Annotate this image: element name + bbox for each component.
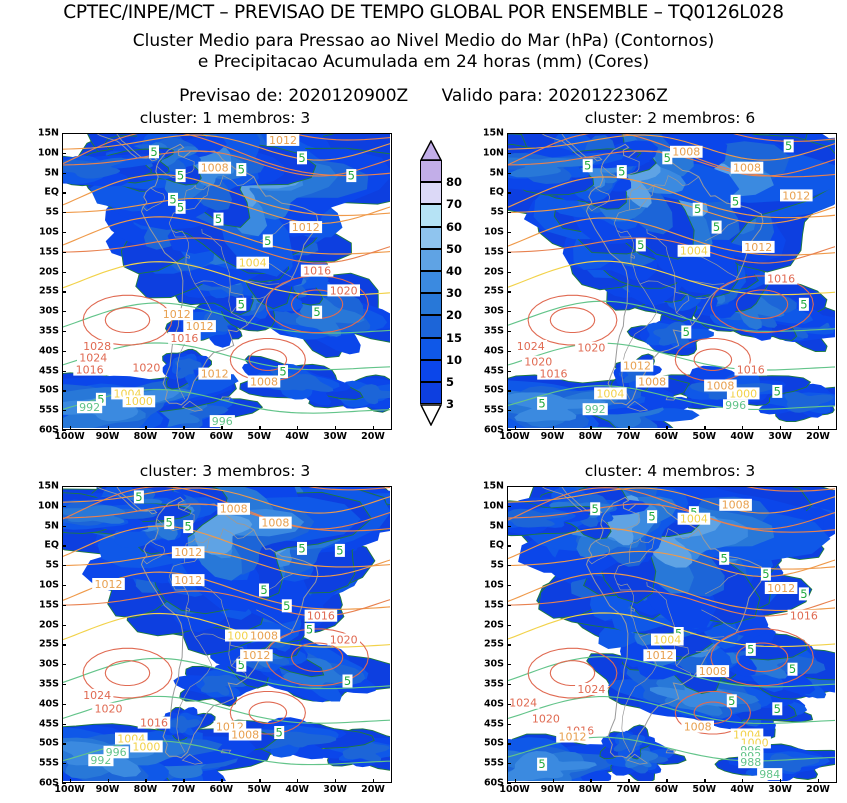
y-tick bbox=[507, 212, 511, 213]
x-tick bbox=[515, 779, 516, 783]
precip-contour-label: 5 bbox=[683, 325, 690, 339]
x-tick bbox=[297, 426, 298, 430]
subtitle-line-1: Cluster Medio para Pressao ao Nivel Medi… bbox=[0, 31, 847, 51]
precip-contour-label: 5 bbox=[789, 662, 796, 676]
colorbar-tick-label: 40 bbox=[446, 264, 462, 278]
x-axis-label: 100W bbox=[54, 784, 84, 795]
isobar-label: 1008 bbox=[722, 499, 750, 512]
x-axis-label: 30W bbox=[768, 784, 792, 795]
x-tick bbox=[108, 426, 109, 430]
y-tick bbox=[507, 486, 511, 487]
isobar-label: 1016 bbox=[790, 610, 818, 623]
precip-contour-label: 5 bbox=[584, 159, 591, 173]
y-tick bbox=[507, 743, 511, 744]
isobar-label: 1024 bbox=[509, 697, 537, 710]
y-axis-label: 35S bbox=[28, 326, 59, 337]
precip-contour-label: 5 bbox=[150, 145, 157, 159]
valid-for-text: Valido para: 2020122306Z bbox=[442, 86, 668, 106]
y-tick bbox=[62, 486, 66, 487]
isobar-label: 1012 bbox=[559, 730, 587, 743]
x-axis-label: 60W bbox=[654, 784, 678, 795]
x-tick bbox=[373, 426, 374, 430]
x-axis-label: 60W bbox=[209, 784, 233, 795]
y-tick bbox=[62, 153, 66, 154]
colorbar-arrow-down bbox=[420, 404, 442, 426]
y-tick bbox=[62, 232, 66, 233]
x-tick bbox=[742, 779, 743, 783]
y-tick bbox=[62, 545, 66, 546]
y-tick bbox=[507, 390, 511, 391]
y-tick bbox=[62, 351, 66, 352]
isobar-label: 996 bbox=[725, 399, 746, 412]
y-axis-label: 15S bbox=[28, 599, 59, 610]
map-canvas: 5555555555555101210081012100410161020101… bbox=[63, 134, 391, 429]
y-tick bbox=[62, 252, 66, 253]
y-tick bbox=[62, 743, 66, 744]
y-axis-label: 50S bbox=[28, 385, 59, 396]
precip-contour-label: 5 bbox=[276, 726, 283, 740]
x-axis-label: 40W bbox=[285, 784, 309, 795]
x-axis-label: 90W bbox=[96, 784, 120, 795]
y-tick bbox=[507, 371, 511, 372]
x-tick bbox=[628, 779, 629, 783]
isobar-label: 1016 bbox=[140, 717, 168, 730]
precip-contour-label: 5 bbox=[344, 674, 351, 688]
colorbar-band bbox=[420, 160, 442, 182]
isobar-label: 1012 bbox=[174, 574, 202, 587]
precip-contour-label: 5 bbox=[618, 165, 625, 179]
x-axis-label: 100W bbox=[499, 431, 529, 442]
y-axis-label: 10S bbox=[28, 580, 59, 591]
x-axis-label: 70W bbox=[172, 431, 196, 442]
x-axis-label: 70W bbox=[617, 431, 641, 442]
precip-contour-label: 5 bbox=[135, 490, 142, 504]
y-tick bbox=[507, 133, 511, 134]
isobar-label: 1008 bbox=[638, 375, 666, 388]
y-axis-label: EQ bbox=[28, 187, 59, 198]
isobar-label: 1012 bbox=[782, 189, 810, 202]
x-axis-label: 70W bbox=[617, 784, 641, 795]
map-panel-cluster-2[interactable]: 5555555555551008100810121004101210161024… bbox=[507, 133, 837, 430]
y-tick bbox=[507, 585, 511, 586]
colorbar-tick-label: 15 bbox=[446, 331, 462, 345]
x-tick bbox=[628, 426, 629, 430]
colorbar-arrow-up bbox=[420, 140, 442, 161]
y-axis-label: 15N bbox=[473, 128, 504, 139]
panel-title-3: cluster: 3 membros: 3 bbox=[60, 462, 390, 480]
isobar-label: 1024 bbox=[577, 683, 605, 696]
x-axis-label: 20W bbox=[806, 431, 830, 442]
isobar-label: 1000 bbox=[132, 740, 160, 753]
precip-contour-label: 5 bbox=[260, 583, 267, 597]
y-axis-label: 25S bbox=[28, 639, 59, 650]
precip-contour-label: 5 bbox=[538, 396, 545, 410]
y-tick bbox=[507, 192, 511, 193]
colorbar-tick-label: 50 bbox=[446, 242, 462, 256]
precip-contour-label: 5 bbox=[747, 642, 754, 656]
x-axis-label: 60W bbox=[654, 431, 678, 442]
isobar-label: 1008 bbox=[250, 629, 278, 642]
y-axis-label: 15N bbox=[28, 128, 59, 139]
y-tick bbox=[507, 684, 511, 685]
precip-contour-label: 5 bbox=[238, 297, 245, 311]
precip-contour-label: 5 bbox=[336, 543, 343, 557]
map-svg: 5555555555551008100810121012101210161020… bbox=[63, 487, 390, 781]
precip-contour-label: 5 bbox=[185, 520, 192, 534]
y-tick bbox=[507, 625, 511, 626]
x-tick bbox=[818, 779, 819, 783]
forecast-dates: Previsao de: 2020120900Z Valido para: 20… bbox=[0, 86, 847, 106]
x-axis-label: 50W bbox=[247, 784, 271, 795]
x-tick bbox=[590, 426, 591, 430]
y-axis-label: 20S bbox=[473, 619, 504, 630]
x-tick bbox=[335, 426, 336, 430]
isobar-label: 1004 bbox=[239, 257, 267, 270]
y-tick bbox=[62, 133, 66, 134]
precip-contour-label: 5 bbox=[728, 694, 735, 708]
isobar-label: 984 bbox=[759, 768, 780, 781]
y-tick bbox=[62, 390, 66, 391]
y-tick bbox=[507, 545, 511, 546]
precip-contour-label: 5 bbox=[348, 169, 355, 183]
y-axis-label: 10N bbox=[28, 147, 59, 158]
x-tick bbox=[335, 779, 336, 783]
x-tick bbox=[221, 779, 222, 783]
map-svg: 5555555555551008100810121004101210161024… bbox=[508, 134, 835, 428]
y-axis-label: 50S bbox=[473, 738, 504, 749]
x-axis-label: 40W bbox=[730, 784, 754, 795]
x-axis-label: 20W bbox=[361, 431, 385, 442]
y-axis-label: 5S bbox=[28, 207, 59, 218]
precip-contour-label: 5 bbox=[800, 587, 807, 601]
y-axis-label: 35S bbox=[28, 679, 59, 690]
precip-contour-label: 5 bbox=[637, 238, 644, 252]
y-axis-label: 55S bbox=[473, 758, 504, 769]
x-axis-label: 80W bbox=[134, 431, 158, 442]
map-svg: 5555555555551008100410121016100410121008… bbox=[508, 487, 835, 781]
isobar-line bbox=[83, 295, 172, 345]
y-tick bbox=[507, 605, 511, 606]
precip-contour-label: 5 bbox=[713, 220, 720, 234]
precip-contour-label: 5 bbox=[279, 365, 286, 379]
isobar-label: 996 bbox=[106, 746, 127, 759]
y-tick bbox=[62, 506, 66, 507]
isobar-label: 1012 bbox=[623, 360, 651, 373]
isobar-label: 1020 bbox=[577, 342, 605, 355]
x-axis-label: 20W bbox=[361, 784, 385, 795]
y-tick bbox=[62, 212, 66, 213]
precip-contour-label: 5 bbox=[648, 510, 655, 524]
x-axis-label: 50W bbox=[692, 784, 716, 795]
x-axis-label: 70W bbox=[172, 784, 196, 795]
y-tick bbox=[507, 644, 511, 645]
isobar-label: 1016 bbox=[737, 364, 765, 377]
isobar-label: 1012 bbox=[174, 546, 202, 559]
x-tick bbox=[183, 779, 184, 783]
map-panel-cluster-4[interactable]: 5555555555551008100410121016100410121008… bbox=[507, 486, 837, 783]
y-axis-label: 25S bbox=[473, 639, 504, 650]
isobar-label: 1024 bbox=[517, 340, 545, 353]
y-tick bbox=[507, 272, 511, 273]
x-tick bbox=[145, 779, 146, 783]
x-axis-label: 40W bbox=[730, 431, 754, 442]
isobar-label: 1008 bbox=[733, 162, 761, 175]
colorbar-band bbox=[420, 293, 442, 315]
isobar-line bbox=[528, 295, 617, 345]
y-axis-label: 5N bbox=[28, 167, 59, 178]
precip-contour-label: 5 bbox=[592, 502, 599, 516]
y-axis-label: 5S bbox=[28, 560, 59, 571]
x-tick bbox=[553, 779, 554, 783]
colorbar-band bbox=[420, 182, 442, 204]
colorbar-band bbox=[420, 204, 442, 226]
isobar-label: 988 bbox=[740, 756, 761, 769]
y-tick bbox=[62, 291, 66, 292]
y-tick bbox=[507, 724, 511, 725]
y-tick bbox=[62, 173, 66, 174]
colorbar-tick-label: 20 bbox=[446, 308, 462, 322]
colorbar-band bbox=[420, 360, 442, 382]
y-tick bbox=[62, 625, 66, 626]
y-tick bbox=[507, 331, 511, 332]
precip-contour-label: 5 bbox=[166, 516, 173, 530]
precip-contour-label: 5 bbox=[238, 163, 245, 177]
y-axis-label: 45S bbox=[473, 718, 504, 729]
y-tick bbox=[62, 272, 66, 273]
isobar-label: 1004 bbox=[680, 513, 708, 526]
x-axis-label: 30W bbox=[323, 784, 347, 795]
colorbar-band bbox=[420, 249, 442, 271]
x-axis-label: 100W bbox=[499, 784, 529, 795]
y-axis-label: EQ bbox=[473, 540, 504, 551]
y-tick bbox=[507, 704, 511, 705]
y-axis-label: 45S bbox=[28, 365, 59, 376]
map-panel-cluster-1[interactable]: 5555555555555101210081012100410161020101… bbox=[62, 133, 392, 430]
y-tick bbox=[62, 644, 66, 645]
y-tick bbox=[507, 153, 511, 154]
y-axis-label: 10N bbox=[28, 500, 59, 511]
isobar-label: 1012 bbox=[744, 241, 772, 254]
colorbar-tick-label: 10 bbox=[446, 353, 462, 367]
x-axis-label: 80W bbox=[579, 431, 603, 442]
y-tick bbox=[62, 371, 66, 372]
x-tick bbox=[70, 779, 71, 783]
y-tick bbox=[507, 311, 511, 312]
y-axis-label: 25S bbox=[28, 286, 59, 297]
precip-contour-label: 5 bbox=[721, 551, 728, 565]
y-axis-label: 40S bbox=[473, 698, 504, 709]
precip-contour-label: 5 bbox=[785, 139, 792, 153]
x-tick bbox=[704, 426, 705, 430]
precip-contour-label: 5 bbox=[694, 202, 701, 216]
y-axis-label: 55S bbox=[28, 758, 59, 769]
x-axis-label: 40W bbox=[285, 431, 309, 442]
colorbar-tick-label: 80 bbox=[446, 175, 462, 189]
precip-contour-label: 5 bbox=[283, 599, 290, 613]
isobar-label: 1020 bbox=[132, 362, 160, 375]
map-panel-cluster-3[interactable]: 5555555555551008100810121012101210161020… bbox=[62, 486, 392, 783]
x-tick bbox=[259, 426, 260, 430]
precip-contour-label: 5 bbox=[732, 194, 739, 208]
y-axis-label: 40S bbox=[28, 698, 59, 709]
isobar-label: 1012 bbox=[201, 368, 229, 381]
y-axis-label: 15N bbox=[28, 481, 59, 492]
precip-contour-label: 5 bbox=[762, 567, 769, 581]
map-canvas: 5555555555551008100810121004101210161024… bbox=[508, 134, 836, 429]
isobar-label: 1012 bbox=[95, 578, 123, 591]
colorbar-tick-label: 30 bbox=[446, 286, 462, 300]
y-axis-label: 20S bbox=[28, 266, 59, 277]
colorbar-band bbox=[420, 227, 442, 249]
y-tick bbox=[507, 565, 511, 566]
y-tick bbox=[507, 664, 511, 665]
x-axis-label: 20W bbox=[806, 784, 830, 795]
panel-title-4: cluster: 4 membros: 3 bbox=[505, 462, 835, 480]
y-axis-label: 50S bbox=[28, 738, 59, 749]
precip-contour-label: 5 bbox=[306, 623, 313, 637]
colorbar-tick-label: 5 bbox=[446, 375, 454, 389]
isobar-label: 1008 bbox=[220, 503, 248, 516]
isobar-line bbox=[105, 308, 149, 333]
isobar-label: 1004 bbox=[680, 245, 708, 258]
isobar-label: 1020 bbox=[330, 633, 358, 646]
colorbar-tick-label: 3 bbox=[446, 397, 454, 411]
y-tick bbox=[507, 763, 511, 764]
x-axis-label: 30W bbox=[768, 431, 792, 442]
x-axis-label: 30W bbox=[323, 431, 347, 442]
x-axis-label: 80W bbox=[134, 784, 158, 795]
x-tick bbox=[373, 779, 374, 783]
x-tick bbox=[183, 426, 184, 430]
y-tick bbox=[62, 664, 66, 665]
map-svg: 5555555555555101210081012100410161020101… bbox=[63, 134, 390, 428]
x-tick bbox=[666, 779, 667, 783]
isobar-label: 1012 bbox=[242, 649, 270, 662]
precip-contour-label: 5 bbox=[264, 234, 271, 248]
y-axis-label: 5N bbox=[28, 520, 59, 531]
x-axis-label: 50W bbox=[692, 431, 716, 442]
y-tick bbox=[62, 763, 66, 764]
subtitle-line-2: e Precipitacao Acumulada em 24 horas (mm… bbox=[0, 52, 847, 72]
isobar-label: 992 bbox=[585, 403, 606, 416]
x-axis-label: 60W bbox=[209, 431, 233, 442]
isobar-label: 1016 bbox=[540, 368, 568, 381]
y-axis-label: 5S bbox=[473, 560, 504, 571]
y-axis-label: 20S bbox=[28, 619, 59, 630]
y-tick bbox=[507, 291, 511, 292]
precip-contour-label: 5 bbox=[538, 757, 545, 771]
y-axis-label: 30S bbox=[473, 659, 504, 670]
colorbar-tick-label: 70 bbox=[446, 197, 462, 211]
y-tick bbox=[507, 410, 511, 411]
colorbar-band bbox=[420, 271, 442, 293]
precip-contour-label: 5 bbox=[664, 151, 671, 165]
precip-contour-label: 5 bbox=[774, 702, 781, 716]
y-tick bbox=[62, 605, 66, 606]
map-canvas: 5555555555551008100810121012101210161020… bbox=[63, 487, 391, 782]
panel-title-2: cluster: 2 membros: 6 bbox=[505, 109, 835, 127]
y-axis-label: 10S bbox=[473, 580, 504, 591]
isobar-label: 1008 bbox=[250, 375, 278, 388]
map-canvas: 5555555555551008100410121016100410121008… bbox=[508, 487, 836, 782]
x-axis-label: 90W bbox=[541, 431, 565, 442]
isobar-label: 1016 bbox=[170, 332, 198, 345]
y-tick bbox=[62, 192, 66, 193]
y-tick bbox=[62, 311, 66, 312]
x-axis-label: 100W bbox=[54, 431, 84, 442]
x-tick bbox=[780, 426, 781, 430]
isobar-label: 1016 bbox=[76, 364, 104, 377]
x-tick bbox=[666, 426, 667, 430]
y-tick bbox=[62, 331, 66, 332]
y-tick bbox=[62, 724, 66, 725]
y-tick bbox=[62, 684, 66, 685]
precip-contour-label: 5 bbox=[177, 200, 184, 214]
colorbar[interactable]: 35101520304050607080 bbox=[420, 140, 490, 435]
y-tick bbox=[507, 526, 511, 527]
y-tick bbox=[62, 585, 66, 586]
isobar-label: 1016 bbox=[767, 272, 795, 285]
y-axis-label: 40S bbox=[28, 345, 59, 356]
x-tick bbox=[145, 426, 146, 430]
precip-contour-label: 5 bbox=[313, 305, 320, 319]
isobar-label: 1008 bbox=[699, 665, 727, 678]
y-tick bbox=[507, 506, 511, 507]
isobar-label: 1016 bbox=[307, 610, 335, 623]
isobar-line bbox=[550, 661, 594, 686]
y-axis-label: 55S bbox=[28, 405, 59, 416]
isobar-line bbox=[105, 661, 149, 686]
x-tick bbox=[590, 779, 591, 783]
isobar-label: 1016 bbox=[303, 265, 331, 278]
y-tick bbox=[62, 410, 66, 411]
x-axis-label: 90W bbox=[541, 784, 565, 795]
colorbar-tick-label: 60 bbox=[446, 220, 462, 234]
y-axis-label: 10N bbox=[473, 500, 504, 511]
isobar-label: 1004 bbox=[653, 633, 681, 646]
precip-contour-label: 5 bbox=[215, 212, 222, 226]
x-tick bbox=[780, 779, 781, 783]
y-tick bbox=[62, 565, 66, 566]
precipitation-shading bbox=[63, 134, 390, 428]
y-tick bbox=[62, 526, 66, 527]
isobar-label: 992 bbox=[79, 401, 100, 414]
page-title: CPTEC/INPE/MCT – PREVISAO DE TEMPO GLOBA… bbox=[0, 2, 847, 23]
y-axis-label: 15S bbox=[473, 599, 504, 610]
isobar-label: 1008 bbox=[672, 146, 700, 159]
precip-contour-label: 5 bbox=[800, 297, 807, 311]
isobar-label: 1020 bbox=[95, 703, 123, 716]
y-axis-label: 35S bbox=[473, 679, 504, 690]
x-tick bbox=[70, 426, 71, 430]
isobar-label: 1008 bbox=[706, 379, 734, 392]
x-axis-label: 80W bbox=[579, 784, 603, 795]
isobar-label: 1000 bbox=[125, 395, 153, 408]
isobar-label: 1008 bbox=[261, 517, 289, 530]
isobar-label: 1020 bbox=[330, 284, 358, 297]
figure-root: CPTEC/INPE/MCT – PREVISAO DE TEMPO GLOBA… bbox=[0, 0, 847, 803]
isobar-label: 1020 bbox=[532, 713, 560, 726]
y-axis-label: 45S bbox=[28, 718, 59, 729]
precip-contour-label: 5 bbox=[177, 169, 184, 183]
x-tick bbox=[818, 426, 819, 430]
x-tick bbox=[515, 426, 516, 430]
y-tick bbox=[62, 704, 66, 705]
precip-contour-label: 5 bbox=[774, 384, 781, 398]
isobar-label: 1012 bbox=[269, 134, 297, 147]
y-axis-label: 15S bbox=[28, 246, 59, 257]
isobar-label: 1004 bbox=[596, 387, 624, 400]
